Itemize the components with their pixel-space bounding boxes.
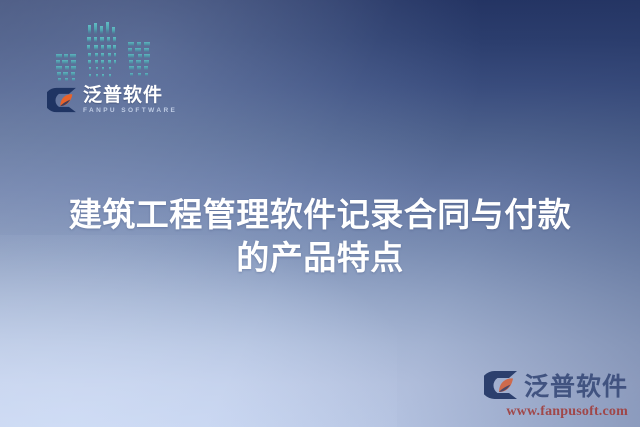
watermark-logo-row: 泛普软件 (464, 367, 628, 403)
watermark-url: www.fanpusoft.com (464, 404, 628, 420)
title-line-1: 建筑工程管理软件记录合同与付款 (18, 193, 622, 236)
page-title: 建筑工程管理软件记录合同与付款 的产品特点 (0, 193, 640, 279)
brand-name-en: FANPU SOFTWARE (83, 108, 177, 115)
brand-logo: 泛普软件 FANPU SOFTWARE (47, 86, 177, 115)
fanpu-hexagon-swoosh-icon (484, 370, 518, 400)
pixel-city-skyline-icon (54, 18, 164, 84)
title-line-2: 的产品特点 (18, 236, 622, 279)
brand-name-cn: 泛普软件 (83, 86, 177, 105)
brand-header: 泛普软件 FANPU SOFTWARE (42, 18, 202, 130)
watermark-name-cn: 泛普软件 (524, 367, 628, 403)
banner-canvas: 泛普软件 FANPU SOFTWARE 建筑工程管理软件记录合同与付款 的产品特… (0, 0, 640, 427)
fanpu-hexagon-swoosh-icon (47, 87, 77, 113)
watermark: 泛普软件 www.fanpusoft.com (464, 367, 628, 419)
